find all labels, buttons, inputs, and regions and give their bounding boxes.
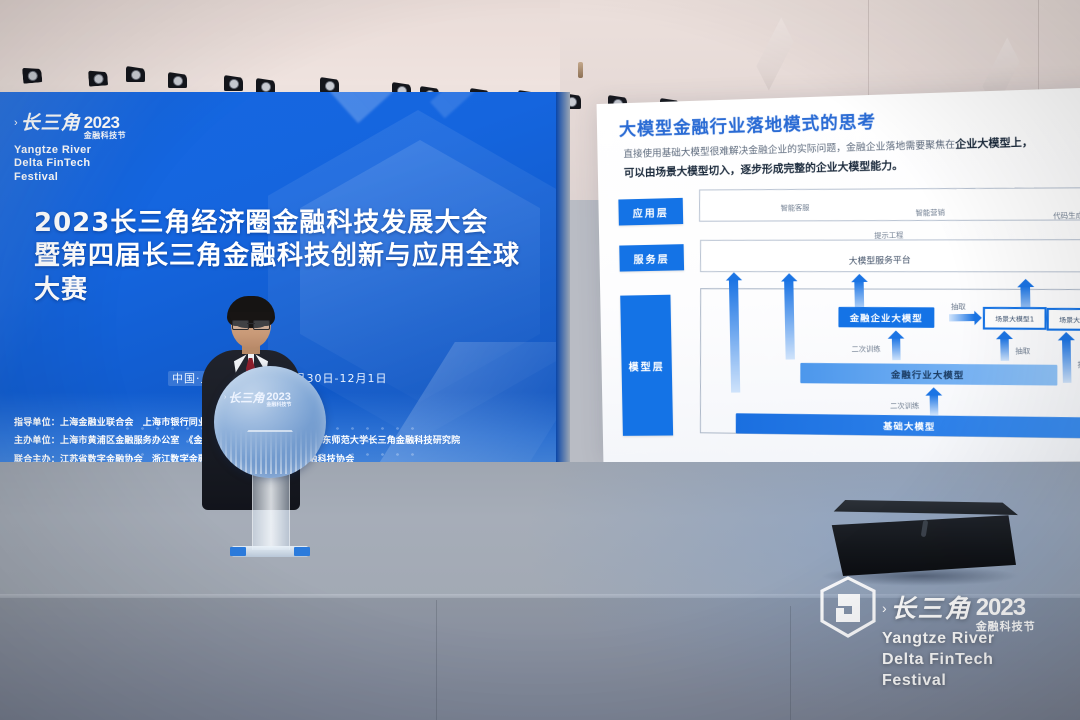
- watermark-en-line1: Yangtze River: [882, 628, 995, 649]
- podium-logo-chinese: 长三角: [228, 392, 264, 404]
- watermark-en-line2: Delta FinTech: [882, 649, 995, 670]
- stage-light-icon: [88, 69, 108, 86]
- watermark-en-line3: Festival: [882, 670, 995, 691]
- logo-en-line1: Yangtze River: [14, 144, 159, 157]
- service-platform-label: 大模型服务平台: [849, 253, 911, 267]
- flow-arrow-up-small: [1062, 339, 1071, 383]
- stage-monitor-speaker: [826, 500, 1018, 578]
- backdrop-title: 2023长三角经济圈金融科技发展大会 暨第四届长三角金融科技创新与应用全球大赛: [34, 207, 534, 307]
- slide-subtitle-plain: 直接使用基础大模型很难解决金融企业的实际问题，金融企业落地需要聚焦在: [623, 139, 955, 160]
- slide-subtitle-bold-tail: 企业大模型上，: [955, 136, 1033, 151]
- podium-base-accent-right: [294, 547, 310, 556]
- podium-base-accent-left: [230, 547, 246, 556]
- app-item-label: 代码生成: [1053, 210, 1080, 221]
- stage-light-icon: [126, 66, 145, 82]
- logo-arrow-icon: ›: [14, 114, 18, 132]
- slide-subtitle-line2: 可以由场景大模型切入，逐步形成完整的企业大模型能力。: [624, 159, 903, 179]
- flow-arrow-up-small: [930, 395, 939, 416]
- stage-light-icon: [320, 77, 339, 93]
- logo-chinese-name: 长三角: [21, 114, 81, 133]
- slide-subtitle: 直接使用基础大模型很难解决金融企业的实际问题，金融企业落地需要聚焦在企业大模型上…: [623, 131, 1080, 182]
- podium-logo-arrow-icon: ›: [224, 392, 226, 404]
- stage-light-icon: [168, 72, 187, 88]
- application-layer-box: [699, 187, 1080, 221]
- floor-seam: [436, 600, 437, 720]
- backdrop-right-edge: [556, 92, 570, 472]
- shield-logo-icon: [818, 576, 878, 638]
- app-item-label: 智能客服: [781, 203, 810, 214]
- layer-tag-model: 模型层: [620, 295, 673, 436]
- logo-en-line2: Delta FinTech: [14, 157, 159, 170]
- layer-tag-application: 应用层: [618, 198, 683, 226]
- backdrop-festival-logo: › 长三角 2023 金融科技节 Yangtze River Delta Fin…: [14, 114, 159, 186]
- watermark-year: 2023: [976, 596, 1036, 620]
- watermark-chinese-name: 长三角: [891, 596, 972, 621]
- backdrop-diagonal-2: [430, 92, 568, 118]
- podium-round-panel: › 长三角 2023 金融科技节: [214, 366, 326, 478]
- presentation-slide: 大模型金融行业落地模式的思考 直接使用基础大模型很难解决金融企业的实际问题，金融…: [597, 88, 1080, 464]
- backdrop-title-line2: 暨第四届长三角金融科技创新与应用全球大赛: [34, 240, 534, 307]
- arrow-label-extract: 抽取: [951, 302, 966, 313]
- slide-title: 大模型金融行业落地模式的思考: [619, 107, 877, 140]
- stage-light-icon: [22, 66, 42, 84]
- logo-year: 2023: [84, 114, 127, 131]
- scene-model-box-1: 场景大模型1: [983, 307, 1047, 330]
- corner-watermark: › 长三角 2023 金融科技节 Yangtze River Delta Fin…: [818, 576, 1080, 706]
- backdrop-title-line1: 2023长三角经济圈金融科技发展大会: [34, 208, 488, 238]
- layer-tag-service: 服务层: [619, 244, 684, 271]
- flow-arrow-up-small: [1000, 338, 1009, 361]
- podium-logo-subtitle: 金融科技节: [266, 403, 291, 408]
- watermark-english-name: Yangtze River Delta FinTech Festival: [882, 628, 995, 691]
- stage-light-icon: [224, 75, 243, 91]
- app-item-label: 智能营销: [915, 208, 945, 219]
- arrow-label-retrain: 二次训练: [851, 344, 880, 355]
- hanging-microphone-icon: [578, 62, 583, 78]
- logo-chinese-subtitle: 金融科技节: [84, 132, 127, 140]
- flow-arrow-up-small: [892, 338, 901, 361]
- flow-arrow-up: [784, 280, 795, 359]
- industry-model-bar: 金融行业大模型: [800, 363, 1057, 386]
- watermark-arrow-icon: ›: [882, 596, 887, 620]
- floor-seam: [790, 606, 791, 720]
- conference-photo: › 长三角 2023 金融科技节 Yangtze River Delta Fin…: [0, 0, 1080, 720]
- eyeglasses-icon: [232, 320, 270, 328]
- extract-arrow-right: [949, 314, 974, 322]
- logo-en-line3: Festival: [14, 171, 159, 184]
- podium: › 长三角 2023 金融科技节: [214, 366, 326, 566]
- scene-model-box-2: 场景大模型2: [1047, 308, 1080, 331]
- arrow-label-retrain-2: 二次训练: [890, 401, 919, 412]
- podium-festival-logo: › 长三角 2023 金融科技节: [224, 392, 316, 408]
- enterprise-model-bar: 金融企业大模型: [838, 307, 934, 328]
- arrow-label-extract-2: 抽取: [1015, 346, 1030, 357]
